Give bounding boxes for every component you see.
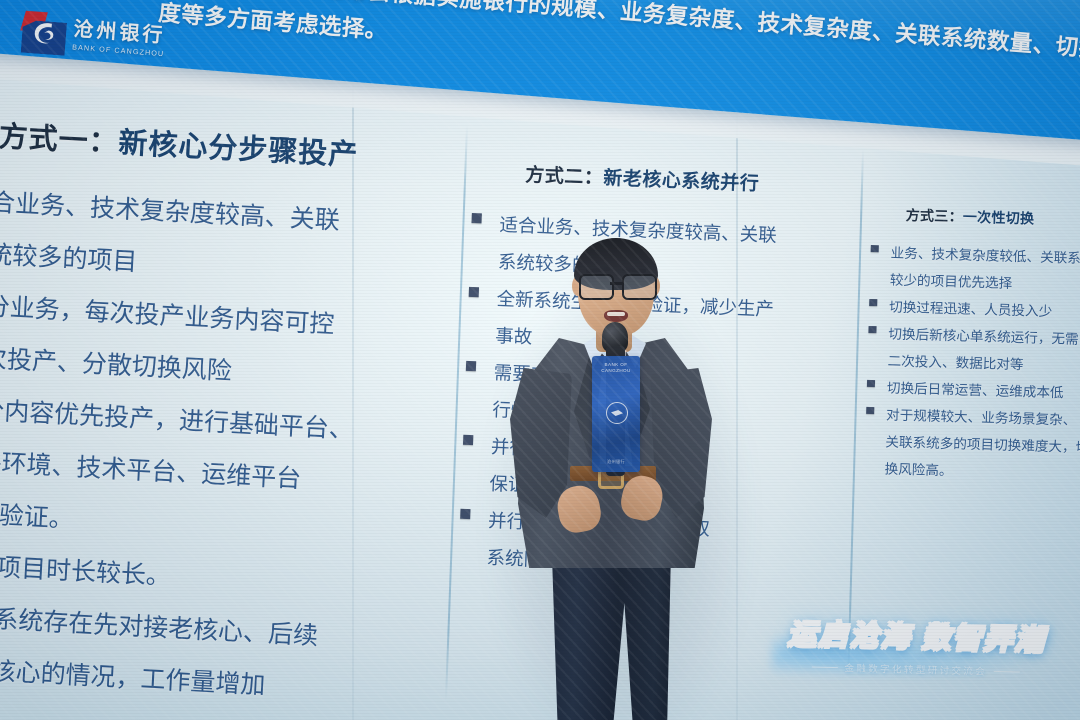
bank-logo-emblem-icon	[21, 11, 68, 56]
bullet-text: 较少的项目优先选择	[890, 273, 1013, 291]
glasses-icon	[578, 274, 656, 296]
bullet-text: 整体项目时长较长。	[0, 551, 172, 591]
column-title-value: 新核心分步骤投产	[118, 127, 359, 172]
slide-column-method-one: 方式一：新核心分步骤投产 适合业务、技术复杂度较高、关联 系统较多的项目 拆分业…	[0, 110, 451, 720]
bullet-text: 多次投产、分散切换风险	[0, 343, 232, 385]
mic-flag-top-text: BANK OF CANGZHOU	[596, 362, 636, 374]
column-title-label: 方式二：	[525, 165, 604, 189]
glasses-lens-left	[579, 274, 614, 300]
bullet-square-icon	[868, 326, 876, 334]
bullet-square-icon	[460, 509, 470, 519]
bullet-square-icon	[867, 380, 875, 388]
bullet-text: 对于规模较大、业务场景复杂、	[886, 407, 1077, 427]
glasses-lens-right	[622, 274, 657, 300]
mic-flag-emblem-icon	[606, 402, 628, 424]
bullet-text: 切换后新核心单系统运行，无需	[888, 327, 1079, 347]
bullet-text: 生产验证。	[0, 499, 74, 534]
speaker-mouth	[604, 310, 628, 322]
bullet-text: 适合业务、技术复杂度较高、关联	[0, 187, 340, 235]
bullet-text: 业务、技术复杂度较低、关联系统	[890, 246, 1080, 267]
column-bullet-list: 业务、技术复杂度较低、关联系统 较少的项目优先选择 切换过程迅速、人员投入少 切…	[864, 239, 1080, 489]
bullet-item: 换风险高。	[864, 455, 1080, 489]
bullet-text: 部分内容优先投产，进行基础平台、	[0, 395, 355, 444]
column-title-value: 一次性切换	[963, 209, 1035, 227]
column-bullet-list: 适合业务、技术复杂度较高、关联 系统较多的项目 拆分业务，每次投产业务内容可控 …	[0, 174, 448, 720]
bullet-square-icon	[866, 407, 874, 415]
bullet-text: 切换过程迅速、人员投入少	[889, 300, 1052, 320]
bullet-square-icon	[869, 299, 877, 307]
bank-logo-text: 沧州银行 BANK OF CANGZHOU	[72, 20, 166, 58]
event-banner-title: 运启沧海 数智弄潮	[766, 620, 1067, 656]
event-banner: 运启沧海 数智弄潮 金融数字化转型研讨交流会	[765, 620, 1067, 701]
bullet-text: 拆分业务，每次投产业务内容可控	[0, 291, 335, 339]
column-title: 方式二：新老核心系统并行	[525, 160, 849, 199]
column-title-label: 方式一：	[0, 121, 119, 159]
bullet-text: 部分系统存在先对接老核心、后续	[0, 603, 319, 651]
speaker-figure: BANK OF CANGZHOU 沧州银行	[470, 218, 760, 720]
column-title-value: 新老核心系统并行	[603, 168, 760, 195]
glasses-bridge	[610, 282, 622, 285]
bullet-text: 切换后日常运营、运维成本低	[887, 380, 1064, 400]
bullet-text: 硬件环境、技术平台、运维平台	[0, 447, 302, 493]
bullet-text: 系统较多的项目	[0, 239, 138, 276]
slide-column-method-three: 方式三：一次性切换 业务、技术复杂度较低、关联系统 较少的项目优先选择 切换过程…	[864, 204, 1080, 489]
column-title: 方式三：一次性切换	[905, 205, 1080, 231]
bullet-text: 换风险高。	[884, 461, 952, 478]
bullet-text: 接新核心的情况，工作量增加	[0, 655, 266, 700]
event-banner-subtitle-text: 金融数字化转型研讨交流会	[844, 660, 987, 677]
logo-swirl-icon	[29, 17, 61, 50]
bullet-square-icon	[871, 245, 879, 253]
column-title-label: 方式三：	[905, 207, 963, 225]
microphone-flag: BANK OF CANGZHOU 沧州银行	[592, 356, 640, 472]
mic-flag-bottom-text: 沧州银行	[596, 459, 636, 465]
presentation-photo: 方式一：新核心分步骤投产 适合业务、技术复杂度较高、关联 系统较多的项目 拆分业…	[0, 0, 1080, 720]
column-title: 方式一：新核心分步骤投产	[0, 113, 451, 179]
bullet-text: 二次投入、数据比对等	[887, 354, 1023, 373]
bank-name-cn: 沧州银行	[73, 20, 167, 47]
bullet-text: 关联系统多的项目切换难度大，切	[885, 434, 1080, 455]
